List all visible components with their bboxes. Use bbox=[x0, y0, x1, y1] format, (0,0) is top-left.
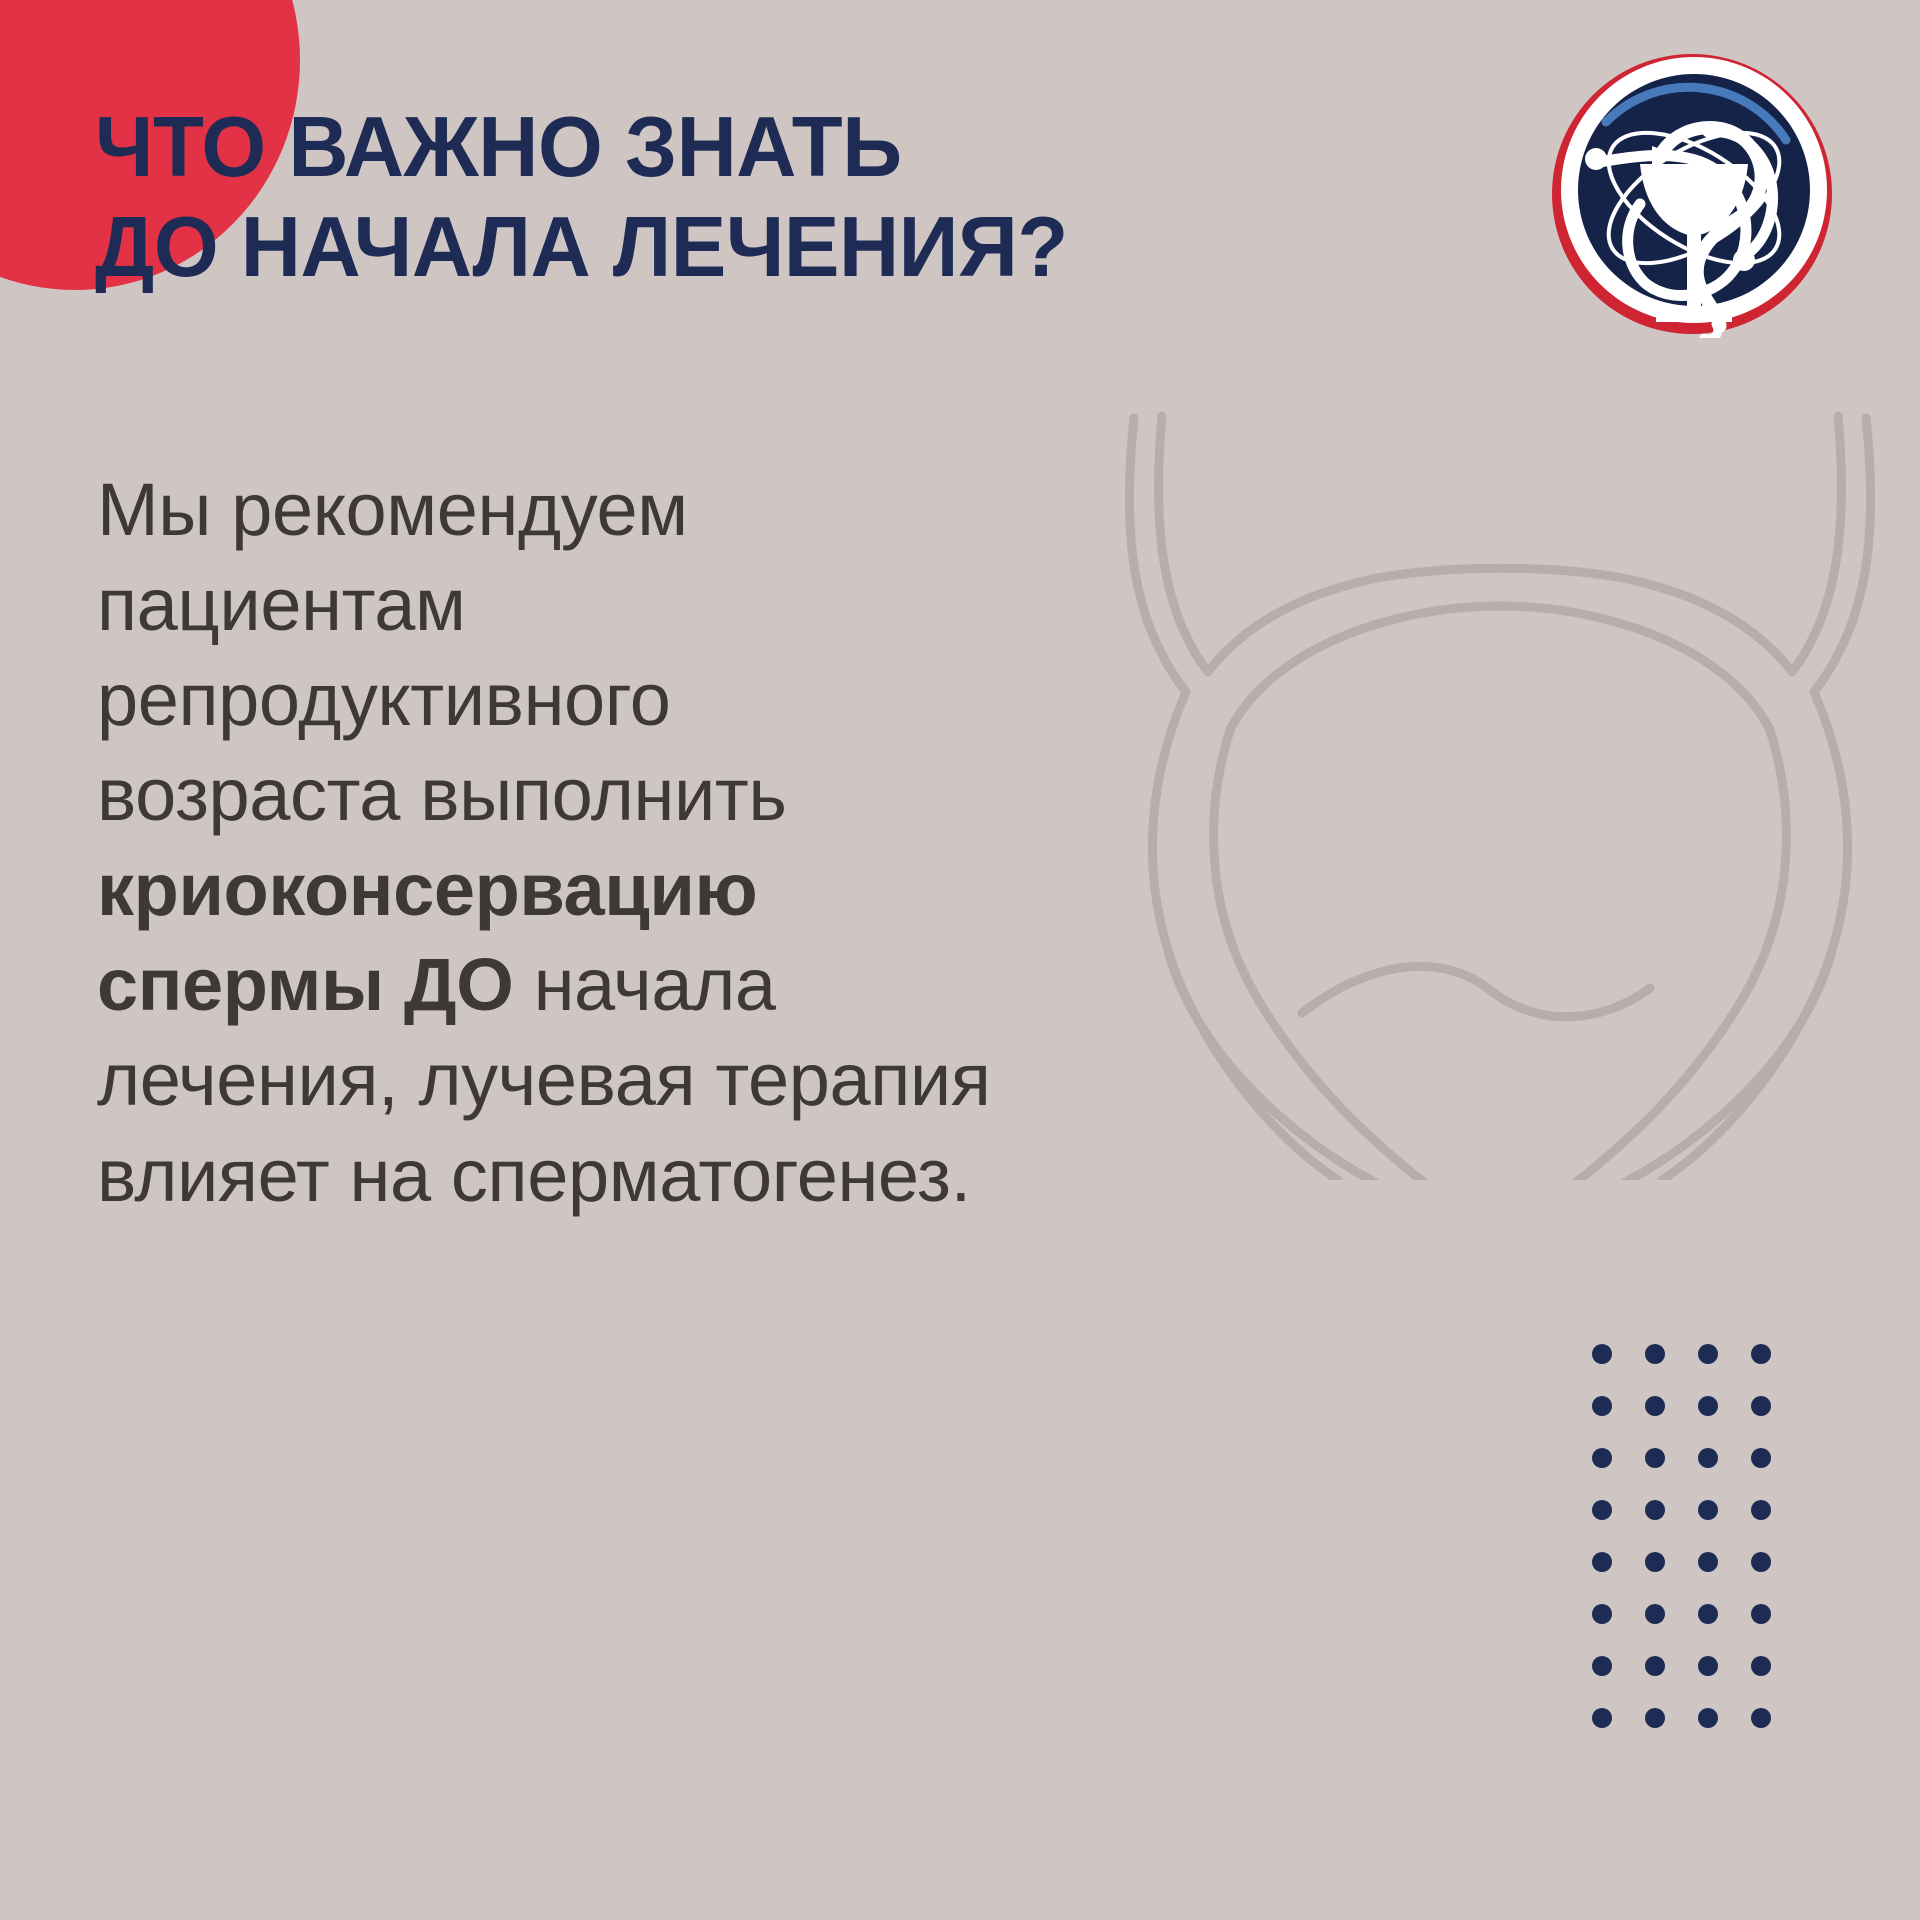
poster-canvas: ЧТО ВАЖНО ЗНАТЬ ДО НАЧАЛА ЛЕЧЕНИЯ? bbox=[0, 0, 1920, 1920]
grid-dot bbox=[1698, 1604, 1718, 1624]
page-title: ЧТО ВАЖНО ЗНАТЬ ДО НАЧАЛА ЛЕЧЕНИЯ? bbox=[95, 98, 1475, 299]
body-line: влияет на сперматогенез. bbox=[97, 1128, 1517, 1223]
grid-dot bbox=[1645, 1656, 1665, 1676]
grid-dot bbox=[1645, 1396, 1665, 1416]
grid-dot bbox=[1751, 1656, 1771, 1676]
body-line: криоконсервацию bbox=[97, 842, 1517, 937]
title-line-1: ЧТО ВАЖНО ЗНАТЬ bbox=[95, 98, 1447, 198]
grid-dot bbox=[1592, 1708, 1612, 1728]
grid-dot bbox=[1698, 1552, 1718, 1572]
grid-dot bbox=[1645, 1500, 1665, 1520]
grid-dot bbox=[1592, 1448, 1612, 1468]
grid-dot bbox=[1645, 1708, 1665, 1728]
body-line: Мы рекомендуем bbox=[97, 462, 1517, 557]
grid-dot bbox=[1698, 1708, 1718, 1728]
grid-dot bbox=[1751, 1604, 1771, 1624]
grid-dot bbox=[1592, 1552, 1612, 1572]
grid-dot bbox=[1698, 1344, 1718, 1364]
title-line-2: ДО НАЧАЛА ЛЕЧЕНИЯ? bbox=[95, 198, 1447, 298]
grid-dot bbox=[1751, 1500, 1771, 1520]
body-emphasis: криоконсервацию bbox=[97, 848, 757, 931]
grid-dot bbox=[1592, 1656, 1612, 1676]
grid-dot bbox=[1592, 1604, 1612, 1624]
grid-dot bbox=[1698, 1396, 1718, 1416]
grid-dot bbox=[1698, 1656, 1718, 1676]
grid-dot bbox=[1592, 1344, 1612, 1364]
grid-dot bbox=[1751, 1708, 1771, 1728]
body-text: Мы рекомендуем пациентам репродуктивного… bbox=[97, 462, 1517, 1223]
grid-dot bbox=[1592, 1396, 1612, 1416]
grid-dot bbox=[1751, 1448, 1771, 1468]
body-emphasis: спермы ДО bbox=[97, 943, 513, 1026]
grid-dot bbox=[1645, 1604, 1665, 1624]
grid-dot bbox=[1645, 1552, 1665, 1572]
grid-dot bbox=[1751, 1396, 1771, 1416]
grid-dot bbox=[1698, 1448, 1718, 1468]
body-line: лечения, лучевая терапия bbox=[97, 1032, 1517, 1127]
body-line: спермы ДО начала bbox=[97, 937, 1517, 1032]
medical-logo bbox=[1548, 46, 1836, 338]
body-line: возраста выполнить bbox=[97, 747, 1517, 842]
grid-dot bbox=[1645, 1344, 1665, 1364]
grid-dot bbox=[1751, 1344, 1771, 1364]
grid-dot bbox=[1698, 1500, 1718, 1520]
body-line: репродуктивного bbox=[97, 652, 1517, 747]
grid-dot bbox=[1751, 1552, 1771, 1572]
body-line: пациентам bbox=[97, 557, 1517, 652]
grid-dot bbox=[1645, 1448, 1665, 1468]
dot-grid-decoration bbox=[1592, 1344, 1804, 1760]
grid-dot bbox=[1592, 1500, 1612, 1520]
